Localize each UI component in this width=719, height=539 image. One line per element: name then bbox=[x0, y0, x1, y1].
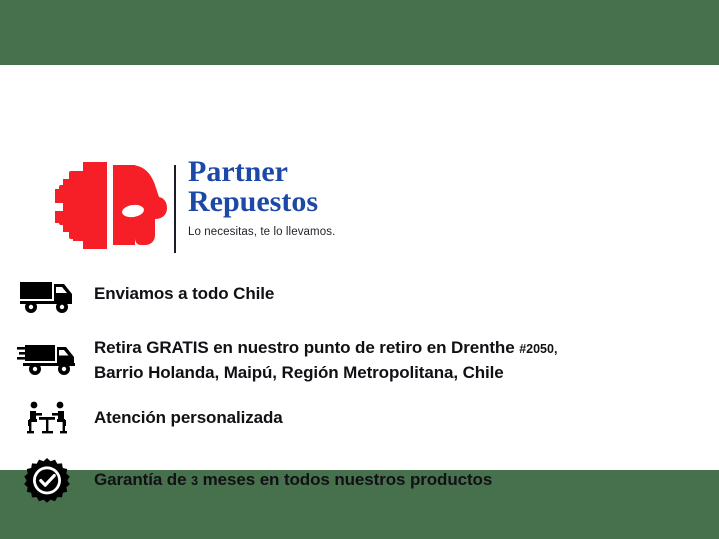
guarantee-prefix: Garantía de bbox=[94, 470, 191, 489]
feature-text-shipping: Enviamos a todo Chile bbox=[94, 270, 654, 305]
gear-car-logo-icon bbox=[55, 159, 167, 251]
pickup-line-2: Barrio Holanda, Maipú, Región Metropolit… bbox=[94, 363, 504, 382]
truck-icon bbox=[16, 270, 78, 322]
logo-title-line-1: Partner bbox=[188, 157, 478, 187]
logo-divider bbox=[174, 165, 176, 253]
promo-banner: Partner Repuestos Lo necesitas, te lo ll… bbox=[0, 0, 719, 539]
logo-text-block: Partner Repuestos Lo necesitas, te lo ll… bbox=[188, 157, 478, 238]
brand-logo: Partner Repuestos Lo necesitas, te lo ll… bbox=[55, 157, 475, 257]
pickup-line-1-prefix: Retira GRATIS en nuestro punto de retiro… bbox=[94, 338, 519, 357]
white-content-card: Partner Repuestos Lo necesitas, te lo ll… bbox=[0, 65, 719, 470]
guarantee-badge-check-icon bbox=[16, 456, 78, 508]
logo-title-line-2: Repuestos bbox=[188, 187, 478, 217]
pickup-address-number: #2050, bbox=[519, 342, 557, 356]
guarantee-months-number: 3 bbox=[191, 474, 198, 488]
feature-text-attention: Atención personalizada bbox=[94, 394, 654, 429]
feature-text-pickup: Retira GRATIS en nuestro punto de retiro… bbox=[94, 332, 654, 384]
logo-tagline: Lo necesitas, te lo llevamos. bbox=[188, 226, 478, 238]
feature-row-pickup: Retira GRATIS en nuestro punto de retiro… bbox=[0, 332, 719, 388]
people-at-table-icon bbox=[16, 394, 78, 446]
feature-row-attention: Atención personalizada bbox=[0, 394, 719, 450]
feature-row-shipping: Enviamos a todo Chile bbox=[0, 270, 719, 326]
fast-delivery-truck-icon bbox=[16, 332, 78, 384]
feature-text-guarantee: Garantía de 3 meses en todos nuestros pr… bbox=[94, 456, 654, 493]
guarantee-suffix: meses en todos nuestros productos bbox=[198, 470, 492, 489]
feature-list: Enviamos a todo Chile bbox=[0, 270, 719, 518]
feature-row-guarantee: Garantía de 3 meses en todos nuestros pr… bbox=[0, 456, 719, 512]
top-green-band bbox=[0, 0, 719, 65]
